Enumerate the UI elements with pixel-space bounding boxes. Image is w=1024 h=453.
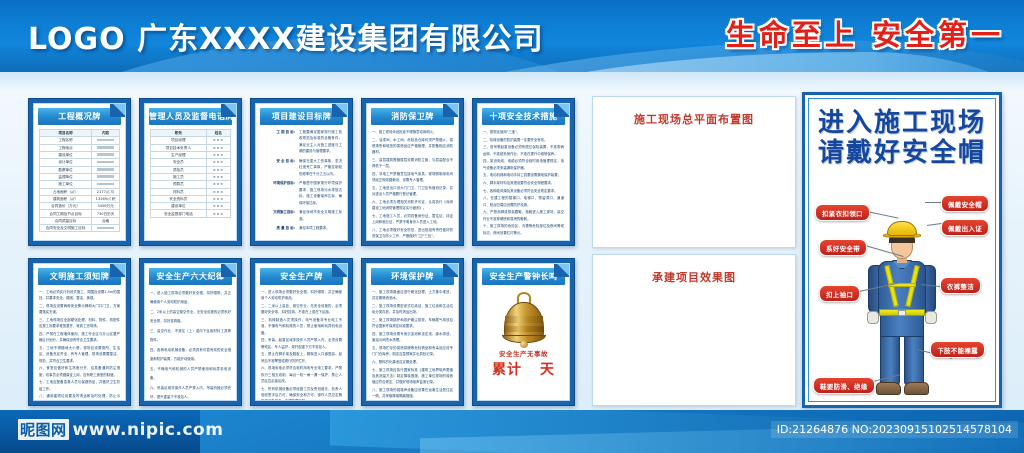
list-item: 八、在建工程的楼梯口、电梯口、预留洞口、通道口、阳台四周应设置防护设施。 xyxy=(483,195,564,208)
table-row-label: 合同工期及节点目标 xyxy=(40,210,92,217)
list-item: 三、工地现场应全部硬化处理，材料、物件、构配件应按工序要求堆放整齐，堆到工完场清… xyxy=(39,317,120,330)
panel-title-management: 管理人员及监督电话牌 xyxy=(149,108,232,125)
company-logo-title: LOGO 广东XXXX建设集团有限公司 xyxy=(28,14,544,58)
table-row: 建设单位××× xyxy=(151,203,231,210)
list-item: 十、施工现场的危险区、沟槽等危险部位及夜间警戒标志，夜间设置红灯警示。 xyxy=(483,223,564,236)
table-row-label: 设计单位 xyxy=(40,159,92,166)
ten-measures-list: 一、按规定使用"三宝"。二、机械设备的防护装置一定要齐全有效。三、塔吊等起重设备… xyxy=(483,129,564,236)
panel-environment[interactable]: 环境保护牌 一、施工现场路面应进行硬化处理、土方集中堆放，并定期喷洒洒水。二、施… xyxy=(361,258,464,406)
table-row: 占地面积（㎡）2177㎡ 与 xyxy=(40,188,120,195)
goal-label: 安 全 目 标： xyxy=(261,158,299,177)
table-row: 合同工期及节点目标730日历天 xyxy=(40,210,120,217)
table-row-label: 建筑面积（㎡） xyxy=(40,195,92,202)
fire-safety-list: 一、施工现场未经批准不得随意动用明火。二、油漆间、木工间、危险品仓库均须严禁烟火… xyxy=(372,129,453,239)
list-item: 六、工地必须办理相关消防许可证，认真执行《深圳建设工地消防管理规定实行细则》。 xyxy=(372,199,453,212)
list-item: 六、吊装区域非操作人员严禁入内，吊装机械必须完好，提升重量下不准站人。 xyxy=(150,384,231,400)
list-item: 二、油漆间、木工间、危险品仓库均须严禁烟火，易燃场所和堆放的易燃品应严格管理，并… xyxy=(372,137,453,156)
image-id-tag: ID:21264876 NO:20230915102514578104 xyxy=(771,421,1018,438)
environment-list: 一、施工现场路面应进行硬化处理、土方集中堆放，并定期喷洒洒水。二、施工现场设置密… xyxy=(372,289,453,399)
list-item: 三、施工现场锅炉和茶炉烟尘排放，车辆尾气排放应符合国家环保规定标准要求。 xyxy=(372,317,453,330)
table-row: 预算员××× xyxy=(151,181,231,188)
list-item: 四、施工现场设置专用沉淀池和设定池，废水排放、废油污间须水清理。 xyxy=(372,331,453,344)
goal-value: 工程要满足国家现行施工验收规范及标准的合格条件，满足业主入对施工进度与工期的建设… xyxy=(299,129,342,155)
table-row: 质检员××× xyxy=(151,166,231,173)
table-row: 安全监督部门电话××× xyxy=(151,210,231,217)
safety-boot-left-icon xyxy=(876,382,901,395)
panel-goals[interactable]: 项目建设目标牌 工 期 目 标：工程要满足国家现行施工验收规范及标准的合格条件，… xyxy=(250,98,353,246)
table-row: 项目技术负责人××× xyxy=(151,144,231,151)
panel-title-civilized: 文明施工须知牌 xyxy=(38,268,121,285)
panel-corner-accent xyxy=(221,263,237,277)
panel-title-project-overview: 工程概况牌 xyxy=(38,108,121,125)
table-row: 材料员××× xyxy=(151,188,231,195)
redacted-bar xyxy=(97,146,113,149)
table-row: 生产经理××× xyxy=(151,151,231,158)
panel-safe-production[interactable]: 安全生产牌 一、进入现场必须戴好安全帽，扣好帽带，并正确使用个人劳动防护用品。二… xyxy=(250,258,353,406)
panel-title-safety-bell: 安全生产警钟长鸣 xyxy=(482,268,565,285)
redacted-bar xyxy=(97,153,113,156)
list-item: 一、工地必须实行封闭式施工，周围应设置1.5m的围挡，并要求安全、稳固、整洁、美… xyxy=(39,289,120,302)
panel-civilized[interactable]: 文明施工须知牌 一、工地必须实行封闭式施工，周围应设置1.5m的围挡，并要求安全… xyxy=(28,258,131,406)
table-row-value xyxy=(92,181,120,188)
six-disciplines-list: 一、进入施工现场必须戴好安全帽，扣好帽带，并正确使用个人劳动防护用品。二、2米以… xyxy=(150,289,231,400)
panel-title-fire-safety: 消防保卫牌 xyxy=(371,108,454,125)
bell-counter-unit: 天 xyxy=(540,359,555,379)
list-item: 一、按规定使用"三宝"。 xyxy=(483,129,564,135)
safety-boot-right-icon xyxy=(904,382,929,395)
panel-corner-accent xyxy=(554,263,570,277)
table-row: 合同质量目标合格 xyxy=(40,217,120,224)
table-row-value: ××× xyxy=(206,210,230,217)
site-watermark-mark: 昵图网 xyxy=(18,419,69,440)
list-item: 七、各种缆风绳及其设备必须符合安全规定要求。 xyxy=(483,188,564,194)
table-row-value: 13269㎡ 积 xyxy=(92,195,120,202)
list-item: 六、食堂应做好和生熟食分开，应具备通风防尘措施，炊事员必须健康证上岗，应有职工食… xyxy=(39,365,120,378)
page-footer: 昵图网www.nipic.com ID:21264876 NO:20230915… xyxy=(0,410,1024,453)
panel-safety-bell[interactable]: 安全生产警钟长鸣 安全生产无事故 累计 天 xyxy=(472,258,575,406)
safe-production-list: 一、进入现场必须戴好安全帽，扣好帽带，并正确使用个人劳动防护用品。二、二米以上高… xyxy=(261,289,342,400)
list-item: 五、电动机械和电动手持工具要设置漏电保护装置。 xyxy=(483,172,564,178)
table-row: 建设单位 xyxy=(40,151,120,158)
redacted-bar xyxy=(97,161,113,164)
table-row-label: 安全员 xyxy=(151,159,207,166)
panel-corner-accent xyxy=(332,263,348,277)
table-row-label: 合同安全及文明施工目标 xyxy=(40,225,92,232)
table-row-value xyxy=(92,159,120,166)
table-row-value xyxy=(92,144,120,151)
table-row-label: 项目经理 xyxy=(151,137,207,144)
table-row-label: 监理单位 xyxy=(40,173,92,180)
table-row-label: 勘察单位 xyxy=(40,166,92,173)
table-row: 工程地点 xyxy=(40,144,120,151)
callout-lead-line xyxy=(867,211,899,219)
list-item: 九、严禁赤脚或穿高跟鞋、拖鞋进入施工现场，高空作业不准穿硬底和易滑的鞋靴。 xyxy=(483,209,564,222)
list-item: 五、禁止在脚手架及跳板上，脚架进入口道登高，起吊后不准攀登或爬行防护栏杆。 xyxy=(261,351,342,364)
table-row: 合同安全及文明施工目标 xyxy=(40,225,120,232)
redacted-bar xyxy=(97,139,113,142)
panel-corner-accent xyxy=(110,103,126,117)
table-row: 安全资料员××× xyxy=(151,195,231,202)
panel-title-safe-production: 安全生产牌 xyxy=(260,268,343,285)
list-item: 一、施工现场路面应进行硬化处理、土方集中堆放，并定期喷洒洒水。 xyxy=(372,289,453,302)
callout-tidy-clothes: 衣裤整洁 xyxy=(940,277,981,294)
list-item: 七、工地施工人员，必须具备身份证、暂住证，持证上岗和就业证，严禁不明身份人员进入… xyxy=(372,213,453,226)
callout-button-cuffs: 扣上袖口 xyxy=(819,285,860,302)
table-row-label: 工程地点 xyxy=(40,144,92,151)
table-row: 工程名称 xyxy=(40,137,120,144)
table-row-label: 安全监督部门电话 xyxy=(151,210,207,217)
table-row: 设计单位 xyxy=(40,159,120,166)
table-row: 施工员××× xyxy=(151,173,231,180)
callout-wear-pass: 佩戴出入证 xyxy=(941,219,989,236)
table-row-value: 730日历天 xyxy=(92,210,120,217)
bell-day-counter: 累计 天 xyxy=(492,359,555,379)
list-item: 四、各种电动机械设备，必须具有可靠有效的安全措施和防护装置，方能开动使用。 xyxy=(150,346,231,364)
table-row-label: 合同质量目标 xyxy=(40,217,92,224)
goal-label: 环境保护目标： xyxy=(261,180,299,206)
goal-row: 文明施工目标：满足深圳市安全文明施工标准。 xyxy=(261,209,342,222)
list-item: 八、通用建筑垃圾要及时清运和及时处理，防止污水、粉尘、噪音等对周边的污染。 xyxy=(39,393,120,400)
panel-ten-measures[interactable]: 十项安全技术措施 一、按规定使用"三宝"。二、机械设备的防护装置一定要齐全有效。… xyxy=(472,98,575,246)
table-header-cell: 项目名称 xyxy=(40,130,92,137)
panel-corner-accent xyxy=(110,263,126,277)
panel-corner-accent xyxy=(443,103,459,117)
list-item: 八、工地必须做好安全防范，进出班组有责任做好防范保卫与防火工作，严格做好门卫"三… xyxy=(372,227,453,240)
list-item: 七、工地应配备急救人员与保健药品，并做好卫生防疫工作。 xyxy=(39,379,120,392)
table-row-label: 质检员 xyxy=(151,166,207,173)
table-row-value: ××× xyxy=(206,166,230,173)
table-row: 监理单位 xyxy=(40,173,120,180)
panel-corner-accent xyxy=(443,263,459,277)
poster-wear-helmet[interactable]: 进入施工现场 请戴好安全帽 xyxy=(802,92,1002,408)
goal-label: 质 量 目 标： xyxy=(261,225,299,231)
worker-figure-illustration xyxy=(854,221,950,397)
table-row-label: 安全资料员 xyxy=(151,195,207,202)
table-header-cell: 内容 xyxy=(92,130,120,137)
goal-label: 工 期 目 标： xyxy=(261,129,299,155)
board-project-render[interactable]: 承建项目效果图 xyxy=(592,254,796,406)
callout-wear-helmet: 佩戴安全帽 xyxy=(941,195,989,212)
table-header-cell: 职务 xyxy=(151,130,207,137)
list-item: 一、进入施工现场必须戴好安全帽，扣好帽带，并正确使用个人劳动防护用品。 xyxy=(150,289,231,307)
board-site-plan[interactable]: 施工现场总平面布置图 xyxy=(592,96,796,248)
goal-row: 安 全 目 标：确保无重大工伤事故、坚决杜绝死亡事故，严格控制轻伤频率在千分之五… xyxy=(261,158,342,177)
table-header-cell: 姓名 xyxy=(206,130,230,137)
list-item: 三、机械制造人员须操作，电气设备非专业电工不准，不懂电气和机械的人员，禁止使用和… xyxy=(261,317,342,336)
management-table: 职务姓名项目经理×××项目技术负责人×××生产经理×××安全员×××质检员×××… xyxy=(150,129,231,218)
redacted-bar xyxy=(97,183,113,186)
list-item: 二、施工现场设置密闭式垃圾站，施工垃圾和生活垃圾分类存放，并及时清运出场。 xyxy=(372,303,453,316)
table-row-value xyxy=(92,166,120,173)
table-row-value: 合格 xyxy=(92,217,120,224)
panel-management[interactable]: 管理人员及监督电话牌 职务姓名项目经理×××项目技术负责人×××生产经理×××安… xyxy=(139,98,242,246)
table-row-value: ××× xyxy=(206,181,230,188)
list-item: 五、现场贮存的易燃易爆等危险物品和有毒品应设专门门仓库房，制定应急预案并出具检记… xyxy=(372,345,453,358)
table-row-label: 施工员 xyxy=(151,173,207,180)
goal-value: 确保无重大工伤事故、坚决杜绝死亡事故，严格控制轻伤频率在千分之五以内。 xyxy=(299,158,342,177)
hard-hat-icon xyxy=(887,221,917,236)
list-item: 四、吊装、起重区域非操作人员严禁入内，必须设置警戒区、专人监护，架杆起重下方不准… xyxy=(261,337,342,350)
table-row-value xyxy=(92,225,120,232)
panel-title-ten-measures: 十项安全技术措施 xyxy=(482,108,565,125)
goal-row: 质 量 目 标：满足本项工程要求。 xyxy=(261,225,342,231)
list-item: 四、非电工严禁随意拉接电气用具，现场照明用电均须经正规线路敷设、设置专人管理。 xyxy=(372,171,453,184)
list-item: 二、机械设备的防护装置一定要齐全有效。 xyxy=(483,137,564,143)
table-row: 施工单位 xyxy=(40,181,120,188)
list-item: 一、进入现场必须戴好安全帽，扣好帽带，并正确使用个人劳动防护用品。 xyxy=(261,289,342,302)
list-item: 一、施工现场未经批准不得随意动用明火。 xyxy=(372,129,453,135)
table-header-row: 项目名称内容 xyxy=(40,130,120,137)
callout-antislip-shoes: 鞋要防滑、绝缘 xyxy=(813,377,875,394)
site-watermark: 昵图网www.nipic.com xyxy=(18,419,223,440)
callout-fasten-harness: 系好安全带 xyxy=(819,239,867,256)
table-row-value: 3456万元 xyxy=(92,203,120,210)
panel-fire-safety[interactable]: 消防保卫牌 一、施工现场未经批准不得随意动用明火。二、油漆间、木工间、危险品仓库… xyxy=(361,98,464,246)
project-overview-tbody: 项目名称内容工程名称工程地点建设单位设计单位勘察单位监理单位施工单位占地面积（㎡… xyxy=(40,130,120,232)
table-row: 合同造价（万元）3456万元 xyxy=(40,203,120,210)
table-row-label: 生产经理 xyxy=(151,151,207,158)
list-item: 六、照料的化粪池应定期处理。 xyxy=(372,359,453,365)
table-row-label: 合同造价（万元） xyxy=(40,203,92,210)
management-tbody: 职务姓名项目经理×××项目技术负责人×××生产经理×××安全员×××质检员×××… xyxy=(151,130,231,218)
goal-value: 严格遵守国家现行环境保护要求，施工现场污水排放达标，施工设备噪声达标，确保环保达… xyxy=(299,180,342,206)
panel-title-goals: 项目建设目标牌 xyxy=(260,108,343,125)
header-slogan: 生命至上 安全第一 xyxy=(726,12,1004,54)
work-glove-right-icon xyxy=(925,311,937,324)
list-item: 二、二米以上高处、悬空作业，无安全设施的，必须戴好安全带，扣好挂钩，不准在上或在… xyxy=(261,303,342,316)
list-item: 五、工地进出口设大门门卫，门卫应有值班记录，并对进出人员严格履行登记管理。 xyxy=(372,185,453,198)
safety-bell-icon xyxy=(501,292,547,344)
redacted-bar xyxy=(97,168,113,171)
list-item: 八、施工现场的强噪声设备应设置在远离生活居住区一侧，并采取降噪隔离措施。 xyxy=(372,387,453,400)
list-item: 三、高空作业，不准往（上）或向下乱抛材料工具等物件。 xyxy=(150,327,231,345)
goal-row: 工 期 目 标：工程要满足国家现行施工验收规范及标准的合格条件，满足业主入对施工… xyxy=(261,129,342,155)
table-row-value: ××× xyxy=(206,188,230,195)
list-item: 七、所有机械设备必须经施工员及责班组长、负责人验收签字后方可，确保安全和方可，操… xyxy=(261,386,342,401)
table-row-value: ××× xyxy=(206,159,230,166)
civilized-list: 一、工地必须实行封闭式施工，周围应设置1.5m的围挡，并要求安全、稳固、整洁、美… xyxy=(39,289,120,400)
bell-counter-prefix: 累计 xyxy=(492,359,522,379)
goal-label: 文明施工目标： xyxy=(261,209,299,222)
table-row-value xyxy=(92,173,120,180)
list-item: 六、脚手架材料及其搭设要符合安全规程要求。 xyxy=(483,180,564,186)
table-row-value: ××× xyxy=(206,203,230,210)
list-item: 六、现场用电必须符合临时用电专业电工要求，严禁执行三相五线制，每台一机一闸一漏一… xyxy=(261,365,342,384)
site-watermark-url: www.nipic.com xyxy=(73,420,224,440)
table-row-label: 项目技术负责人 xyxy=(151,144,207,151)
project-overview-table: 项目名称内容工程名称工程地点建设单位设计单位勘察单位监理单位施工单位占地面积（㎡… xyxy=(39,129,120,232)
panel-title-six-disciplines: 安全生产六大纪律 xyxy=(149,268,232,285)
list-item: 五、不懂电气和机械的人员严禁使用和玩弄机电设备。 xyxy=(150,365,231,383)
goal-value: 满足本项工程要求。 xyxy=(299,225,342,231)
table-row: 项目经理××× xyxy=(151,137,231,144)
poster-headline-line1: 进入施工现场 xyxy=(809,109,995,137)
redacted-bar xyxy=(97,227,113,230)
table-row-value xyxy=(92,137,120,144)
callout-no-bare-legs: 下肢不能裸露 xyxy=(930,341,985,358)
table-row-label: 建设单位 xyxy=(151,203,207,210)
list-item: 四、严禁在工程墙体使用，施工作业区与办公区要严格区分划分，并确保设有符合卫生要求… xyxy=(39,331,120,344)
table-row: 安全员××× xyxy=(151,159,231,166)
list-item: 七、施工现场应执行国家标准《建筑工地界噪声限值及其测量方法》制定降噪措施，施工单… xyxy=(372,367,453,386)
panel-corner-accent xyxy=(554,103,570,117)
table-row-value: ××× xyxy=(206,195,230,202)
work-glove-left-icon xyxy=(867,311,879,324)
board-title-project-render: 承建项目效果图 xyxy=(593,269,795,285)
list-item: 二、2米以上的高空悬空作业，无安全设施的必须系好安全带，扣好挂钩取。 xyxy=(150,308,231,326)
table-header-row: 职务姓名 xyxy=(151,130,231,137)
table-row: 建筑面积（㎡）13269㎡ 积 xyxy=(40,195,120,202)
list-item: 五、工地不得随地大小便，现场应设置厕所、生活区、设备充足齐全，有专人管理、现场设… xyxy=(39,345,120,364)
bell-subtitle: 安全生产无事故 xyxy=(499,348,548,358)
page-header: LOGO 广东XXXX建设集团有限公司 生命至上 安全第一 xyxy=(0,0,1024,72)
panel-corner-accent xyxy=(221,103,237,117)
table-row-value xyxy=(92,151,120,158)
table-row: 勘察单位 xyxy=(40,166,120,173)
table-row-value: ××× xyxy=(206,144,230,151)
panel-title-environment: 环境保护牌 xyxy=(371,268,454,285)
table-row-value: ××× xyxy=(206,151,230,158)
redacted-bar xyxy=(97,175,113,178)
list-item: 三、塔吊等起重设备必须有限位保险装置，不准带病运转，不准超负荷作业，不准在提升中… xyxy=(483,144,564,157)
callout-button-collar: 扣紧衣扣领口 xyxy=(815,204,870,221)
table-row-label: 工程名称 xyxy=(40,137,92,144)
panel-six-disciplines[interactable]: 安全生产六大纪律 一、进入施工现场必须戴好安全帽，扣好帽带，并正确使用个人劳动防… xyxy=(139,258,242,406)
panel-corner-accent xyxy=(332,103,348,117)
poster-headline-line2: 请戴好安全帽 xyxy=(809,139,995,167)
board-title-site-plan: 施工现场总平面布置图 xyxy=(593,111,795,127)
table-row-label: 材料员 xyxy=(151,188,207,195)
table-row-value: 2177㎡ 与 xyxy=(92,188,120,195)
list-item: 四、架设电线、电缆必须符合临时用电管理规定，电气设备必须安装漏电保护器。 xyxy=(483,158,564,171)
table-row-label: 施工单位 xyxy=(40,181,92,188)
goals-list: 工 期 目 标：工程要满足国家现行施工验收规范及标准的合格条件，满足业主入对施工… xyxy=(261,129,342,232)
goal-row: 环境保护目标：严格遵守国家现行环境保护要求，施工现场污水排放达标，施工设备噪声达… xyxy=(261,180,342,206)
table-row-label: 预算员 xyxy=(151,181,207,188)
table-row-value: ××× xyxy=(206,137,230,144)
list-item: 二、现场应设置两种安全警示牌和大门口门卫，方案要落实无误。 xyxy=(39,303,120,316)
table-row-value: ××× xyxy=(206,173,230,180)
list-item: 三、高层建筑需随楼层设置消防立管，与层高配合不得低于一层。 xyxy=(372,157,453,170)
panel-project-overview[interactable]: 工程概况牌 项目名称内容工程名称工程地点建设单位设计单位勘察单位监理单位施工单位… xyxy=(28,98,131,246)
table-row-label: 建设单位 xyxy=(40,151,92,158)
table-row-label: 占地面积（㎡） xyxy=(40,188,92,195)
goal-value: 满足深圳市安全文明施工标准。 xyxy=(299,209,342,222)
